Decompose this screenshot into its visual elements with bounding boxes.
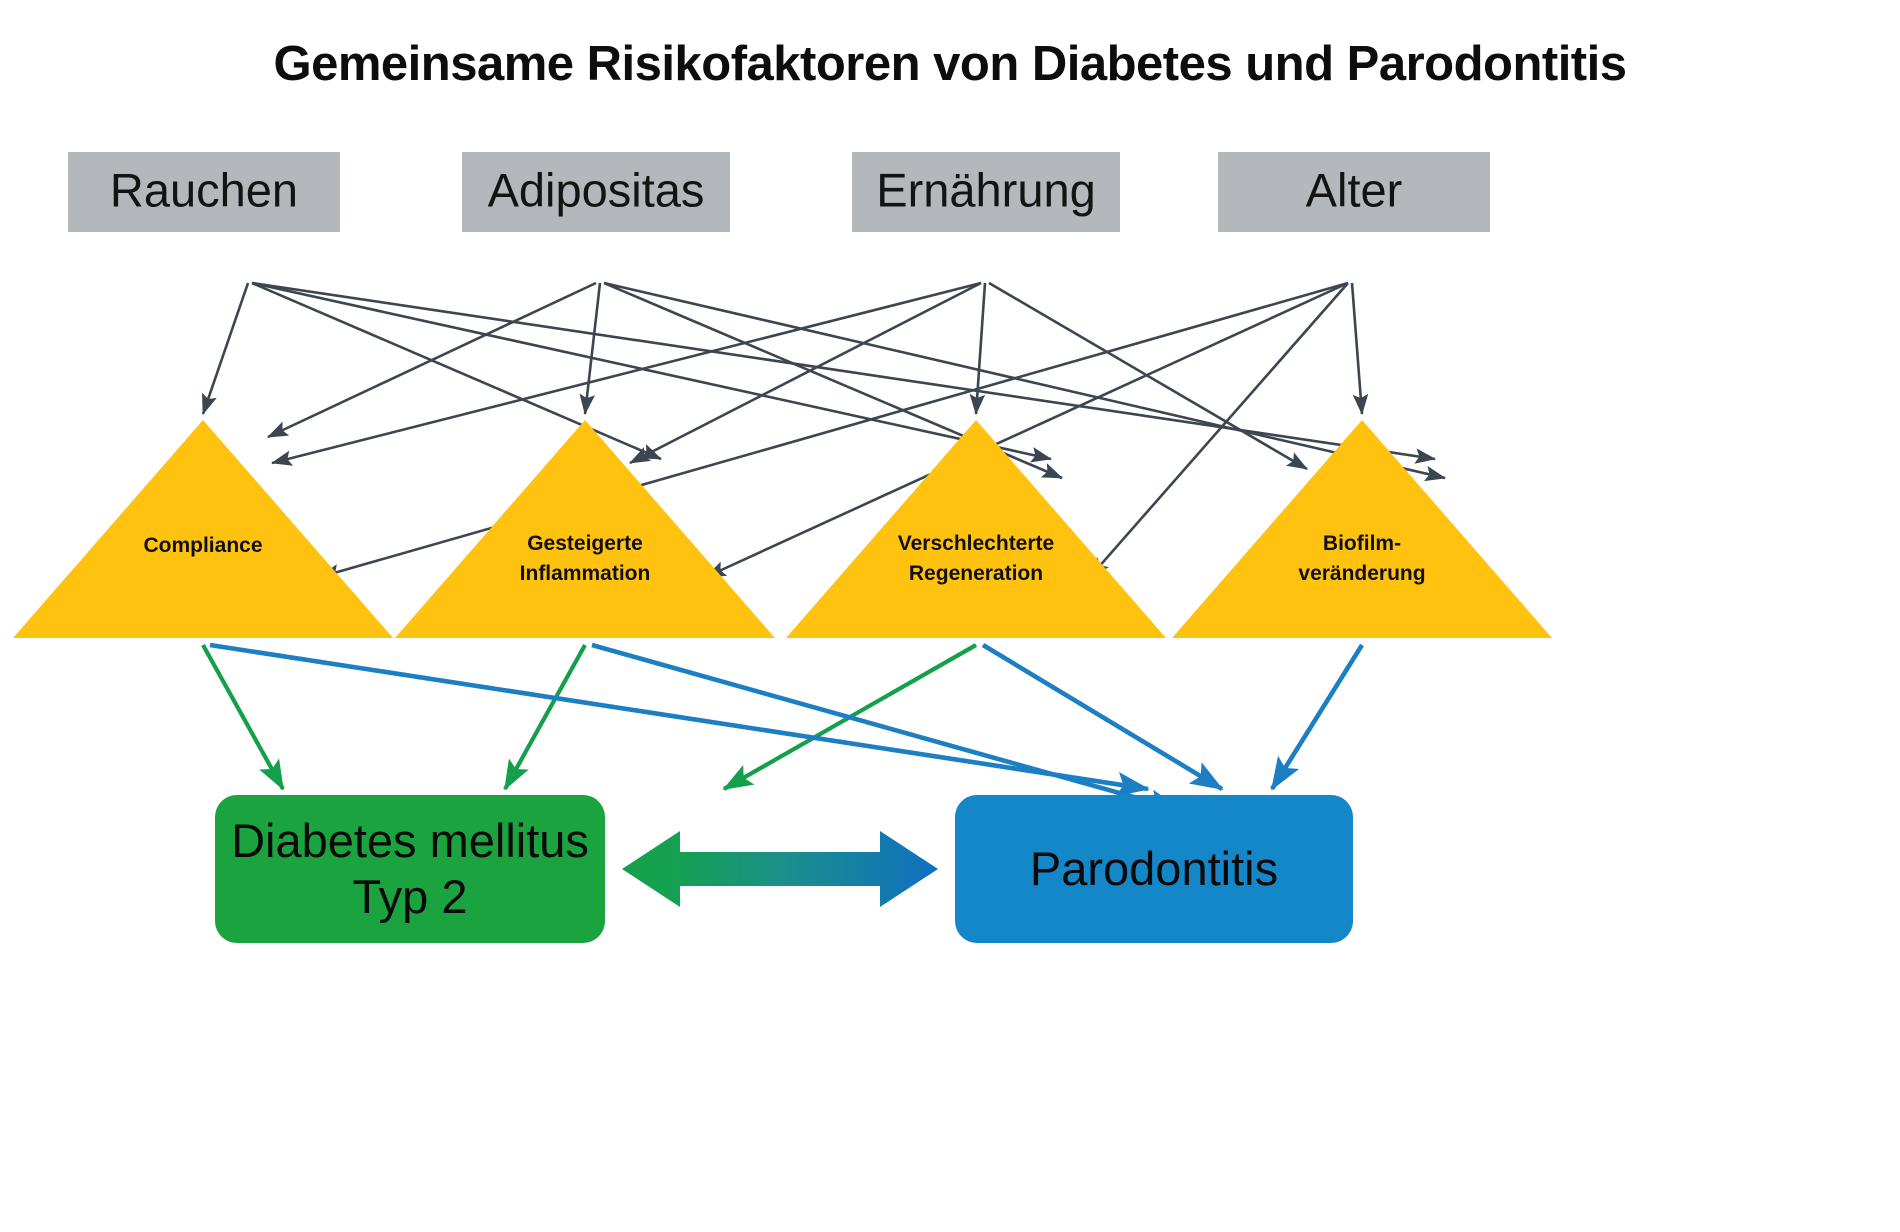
arrow-adipositas-to-biofilm-veraenderung bbox=[604, 283, 1445, 478]
triangle-shape bbox=[1172, 420, 1552, 638]
arrow-biofilm-veraenderung-to-parodontitis bbox=[1272, 645, 1362, 789]
arrow-rauchen-to-compliance bbox=[203, 283, 248, 414]
risk-factor-label: Rauchen bbox=[110, 163, 298, 216]
risk-factor-label: Adipositas bbox=[488, 163, 705, 216]
mediator-label-line: Verschlechterte bbox=[898, 532, 1054, 555]
arrow-alter-to-compliance bbox=[320, 283, 1348, 577]
risk-factor-label: Ernährung bbox=[876, 163, 1096, 216]
mediator-triangles: ComplianceGesteigerteInflammationVerschl… bbox=[13, 420, 1552, 638]
arrow-gesteigerte-inflammation-to-diabetes bbox=[505, 645, 585, 789]
arrow-adipositas-to-gesteigerte-inflammation bbox=[585, 283, 600, 414]
triangle-shape bbox=[395, 420, 775, 638]
outcome-label-line: Parodontitis bbox=[1030, 842, 1278, 895]
arrow-compliance-to-parodontitis bbox=[210, 645, 1148, 789]
outcome-diabetes[interactable]: Diabetes mellitusTyp 2 bbox=[215, 795, 605, 943]
mediator-gesteigerte-inflammation[interactable]: GesteigerteInflammation bbox=[395, 420, 775, 638]
outcome-parodontitis[interactable]: Parodontitis bbox=[955, 795, 1353, 943]
bidirectional-link-arrow bbox=[622, 831, 938, 907]
risk-factor-label: Alter bbox=[1306, 163, 1403, 216]
risk-factor-ernaehrung[interactable]: Ernährung bbox=[852, 152, 1120, 232]
mediator-to-diabetes-arrows bbox=[203, 645, 976, 789]
mediator-to-parodontitis-arrows bbox=[210, 645, 1362, 810]
risk-factor-boxes: RauchenAdipositasErnährungAlter bbox=[68, 152, 1490, 232]
mediator-compliance[interactable]: Compliance bbox=[13, 420, 393, 638]
outcome-label-line: Diabetes mellitus bbox=[231, 814, 589, 867]
arrow-ernaehrung-to-verschlechterte-regeneration bbox=[976, 283, 985, 414]
mediator-label-line: Gesteigerte bbox=[527, 532, 643, 555]
mediator-label-line: Compliance bbox=[143, 534, 262, 557]
triangle-shape bbox=[786, 420, 1166, 638]
diagram-svg: RauchenAdipositasErnährungAlter Complian… bbox=[0, 0, 1900, 1232]
mediator-label-line: veränderung bbox=[1298, 562, 1425, 585]
mediator-label-line: Regeneration bbox=[909, 562, 1043, 585]
arrow-adipositas-to-compliance bbox=[268, 283, 596, 437]
arrow-compliance-to-diabetes bbox=[203, 645, 283, 789]
risk-factor-rauchen[interactable]: Rauchen bbox=[68, 152, 340, 232]
diabetes-parodontitis-link bbox=[622, 831, 938, 907]
mediator-label-line: Biofilm- bbox=[1323, 532, 1401, 555]
arrow-gesteigerte-inflammation-to-parodontitis bbox=[592, 645, 1180, 810]
arrow-rauchen-to-gesteigerte-inflammation bbox=[252, 283, 661, 459]
arrow-alter-to-biofilm-veraenderung bbox=[1352, 283, 1362, 414]
mediator-label-line: Inflammation bbox=[520, 562, 651, 585]
mediator-verschlechterte-regeneration[interactable]: VerschlechterteRegeneration bbox=[786, 420, 1166, 638]
triangle-shape bbox=[13, 420, 393, 638]
risk-factor-adipositas[interactable]: Adipositas bbox=[462, 152, 730, 232]
mediator-biofilm-veraenderung[interactable]: Biofilm-veränderung bbox=[1172, 420, 1552, 638]
risk-factor-alter[interactable]: Alter bbox=[1218, 152, 1490, 232]
arrow-ernaehrung-to-gesteigerte-inflammation bbox=[630, 283, 981, 463]
outcome-label-line: Typ 2 bbox=[353, 870, 468, 923]
risk-to-mediator-arrows bbox=[203, 283, 1445, 577]
diagram-canvas: Gemeinsame Risikofaktoren von Diabetes u… bbox=[0, 0, 1900, 1232]
